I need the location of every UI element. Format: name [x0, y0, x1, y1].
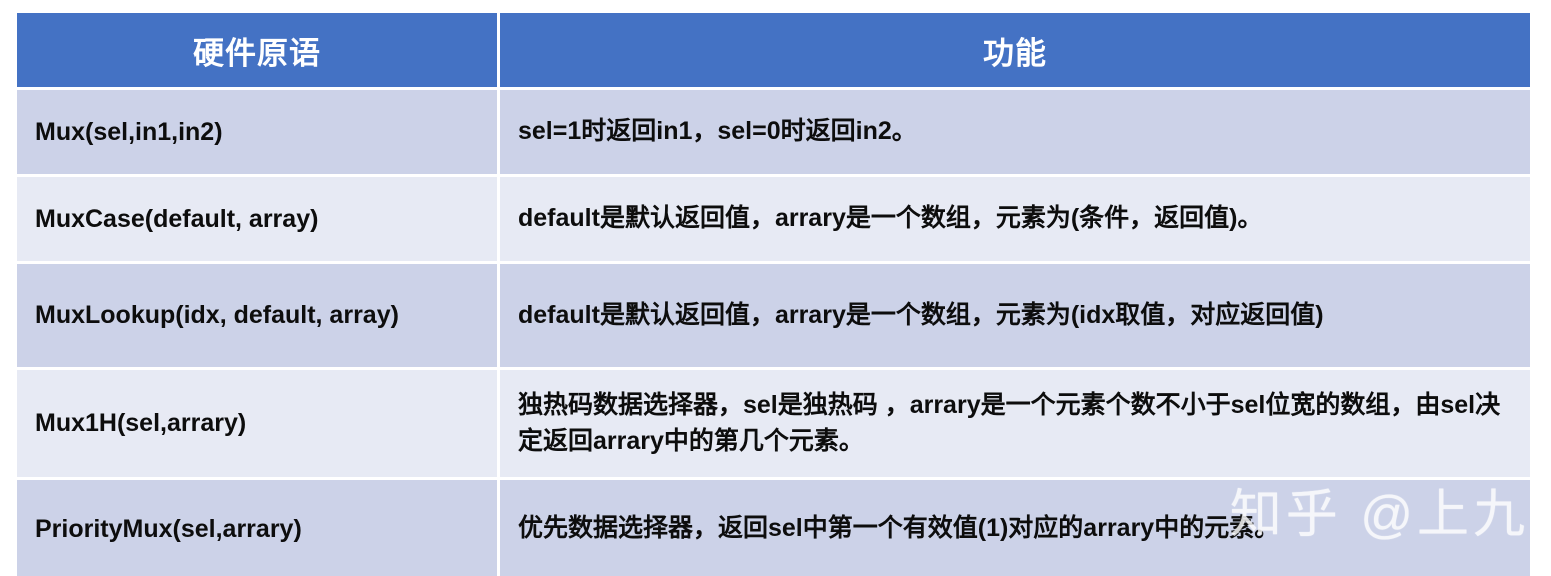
- table-row: MuxLookup(idx, default, array) default是默…: [17, 264, 1530, 370]
- table-row: MuxCase(default, array) default是默认返回值，ar…: [17, 177, 1530, 264]
- cell-function: default是默认返回值，arrary是一个数组，元素为(条件，返回值)。: [500, 177, 1530, 264]
- table-row: Mux1H(sel,arrary) 独热码数据选择器，sel是独热码 ，arra…: [17, 370, 1530, 480]
- table-header: 硬件原语 功能: [17, 13, 1530, 90]
- cell-primitive: MuxLookup(idx, default, array): [17, 264, 500, 370]
- column-header-function: 功能: [500, 13, 1530, 90]
- table-body: Mux(sel,in1,in2) sel=1时返回in1，sel=0时返回in2…: [17, 90, 1530, 576]
- column-header-primitive: 硬件原语: [17, 13, 500, 90]
- cell-function: 独热码数据选择器，sel是独热码 ，arrary是一个元素个数不小于sel位宽的…: [500, 370, 1530, 480]
- cell-function: default是默认返回值，arrary是一个数组，元素为(idx取值，对应返回…: [500, 264, 1530, 370]
- table-header-row: 硬件原语 功能: [17, 13, 1530, 90]
- hardware-primitive-table: 硬件原语 功能 Mux(sel,in1,in2) sel=1时返回in1，sel…: [17, 13, 1530, 576]
- cell-primitive: PriorityMux(sel,arrary): [17, 480, 500, 576]
- page-root: 硬件原语 功能 Mux(sel,in1,in2) sel=1时返回in1，sel…: [0, 0, 1551, 576]
- cell-function: sel=1时返回in1，sel=0时返回in2。: [500, 90, 1530, 177]
- primitive-table-wrapper: 硬件原语 功能 Mux(sel,in1,in2) sel=1时返回in1，sel…: [17, 13, 1530, 576]
- cell-function: 优先数据选择器，返回sel中第一个有效值(1)对应的arrary中的元素。: [500, 480, 1530, 576]
- cell-primitive: Mux1H(sel,arrary): [17, 370, 500, 480]
- table-row: Mux(sel,in1,in2) sel=1时返回in1，sel=0时返回in2…: [17, 90, 1530, 177]
- table-row: PriorityMux(sel,arrary) 优先数据选择器，返回sel中第一…: [17, 480, 1530, 576]
- cell-primitive: MuxCase(default, array): [17, 177, 500, 264]
- cell-primitive: Mux(sel,in1,in2): [17, 90, 500, 177]
